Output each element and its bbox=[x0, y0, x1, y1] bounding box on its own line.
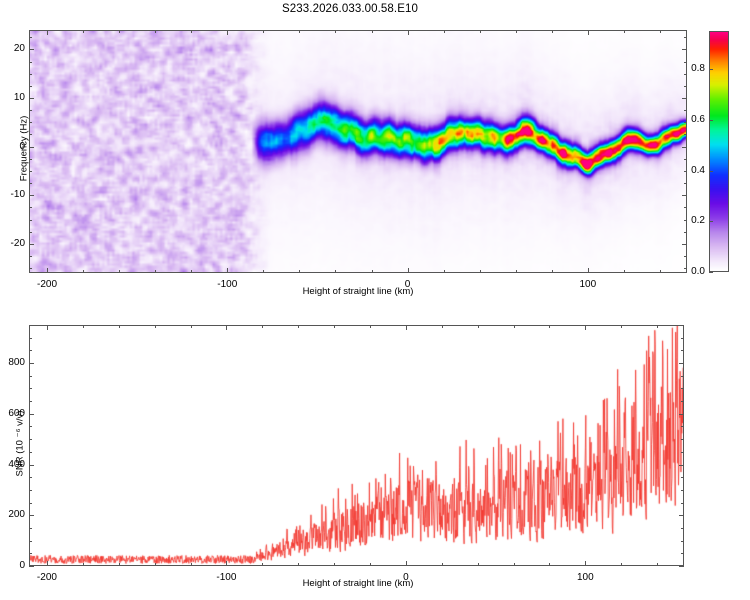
tick-mark bbox=[684, 134, 687, 135]
tick-mark bbox=[29, 490, 32, 491]
tick-mark bbox=[684, 159, 687, 160]
tick-mark bbox=[299, 270, 300, 273]
tick-mark bbox=[408, 30, 409, 35]
tick-mark bbox=[47, 30, 48, 35]
snr-trace bbox=[30, 326, 683, 565]
tick-label: 10 bbox=[5, 92, 25, 103]
tick-mark bbox=[681, 477, 684, 478]
tick-mark bbox=[370, 563, 371, 566]
tick-mark bbox=[679, 515, 684, 516]
tick-mark bbox=[29, 86, 32, 87]
page-title: S233.2026.033.00.58.E10 bbox=[0, 3, 700, 15]
tick-mark bbox=[684, 183, 687, 184]
tick-mark bbox=[83, 325, 84, 328]
tick-mark bbox=[679, 363, 684, 364]
spectrogram-image bbox=[30, 31, 686, 272]
tick-label: -100 bbox=[206, 572, 246, 583]
tick-mark bbox=[226, 325, 227, 330]
tick-label: 0.0 bbox=[683, 266, 705, 277]
tick-mark bbox=[29, 244, 34, 245]
tick-mark bbox=[83, 30, 84, 33]
tick-mark bbox=[29, 207, 32, 208]
tick-mark bbox=[682, 244, 687, 245]
tick-mark bbox=[263, 30, 264, 33]
tick-mark bbox=[588, 268, 589, 273]
tick-mark bbox=[478, 325, 479, 328]
tick-mark bbox=[29, 465, 34, 466]
tick-mark bbox=[191, 563, 192, 566]
tick-mark bbox=[621, 325, 622, 328]
tick-mark bbox=[29, 147, 34, 148]
tick-mark bbox=[552, 270, 553, 273]
tick-mark bbox=[552, 30, 553, 33]
tick-mark bbox=[29, 528, 32, 529]
tick-mark bbox=[621, 563, 622, 566]
tick-label: 100 bbox=[565, 572, 605, 583]
tick-mark bbox=[29, 566, 34, 567]
tick-label: 0 bbox=[1, 560, 25, 571]
tick-mark bbox=[29, 62, 32, 63]
tick-mark bbox=[155, 270, 156, 273]
tick-mark bbox=[335, 270, 336, 273]
tick-mark bbox=[155, 325, 156, 328]
tick-mark bbox=[684, 86, 687, 87]
tick-mark bbox=[442, 563, 443, 566]
tick-mark bbox=[191, 270, 192, 273]
tick-mark bbox=[370, 325, 371, 328]
tick-mark bbox=[679, 566, 684, 567]
tick-mark bbox=[684, 110, 687, 111]
tick-mark bbox=[191, 325, 192, 328]
tick-mark bbox=[298, 563, 299, 566]
tick-mark bbox=[684, 256, 687, 257]
tick-mark bbox=[478, 563, 479, 566]
tick-label: 0.6 bbox=[683, 114, 705, 125]
tick-mark bbox=[682, 98, 687, 99]
tick-mark bbox=[480, 30, 481, 33]
tick-label: 20 bbox=[5, 43, 25, 54]
tick-mark bbox=[298, 325, 299, 328]
tick-mark bbox=[299, 30, 300, 33]
tick-mark bbox=[442, 325, 443, 328]
tick-mark bbox=[262, 325, 263, 328]
tick-mark bbox=[29, 515, 34, 516]
tick-mark bbox=[514, 325, 515, 328]
tick-mark bbox=[681, 503, 684, 504]
tick-mark bbox=[684, 207, 687, 208]
tick-mark bbox=[444, 30, 445, 33]
tick-mark bbox=[29, 363, 34, 364]
tick-mark bbox=[29, 426, 32, 427]
tick-mark bbox=[119, 270, 120, 273]
tick-mark bbox=[682, 49, 687, 50]
tick-mark bbox=[681, 350, 684, 351]
tick-mark bbox=[679, 414, 684, 415]
tick-mark bbox=[227, 30, 228, 35]
tick-mark bbox=[263, 270, 264, 273]
tick-mark bbox=[29, 268, 32, 269]
tick-mark bbox=[119, 325, 120, 328]
tick-label: -20 bbox=[5, 238, 25, 249]
tick-mark bbox=[549, 325, 550, 328]
tick-label: -200 bbox=[27, 279, 67, 290]
tick-mark bbox=[119, 563, 120, 566]
tick-mark bbox=[549, 563, 550, 566]
tick-label: 200 bbox=[1, 509, 25, 520]
tick-mark bbox=[155, 563, 156, 566]
tick-mark bbox=[681, 338, 684, 339]
tick-label: 100 bbox=[568, 279, 608, 290]
tick-mark bbox=[709, 272, 713, 273]
tick-mark bbox=[29, 553, 32, 554]
tick-mark bbox=[408, 268, 409, 273]
snr-panel bbox=[29, 325, 684, 566]
tick-mark bbox=[29, 325, 32, 326]
tick-mark bbox=[585, 325, 586, 330]
tick-mark bbox=[480, 270, 481, 273]
tick-mark bbox=[684, 232, 687, 233]
tick-mark bbox=[624, 30, 625, 33]
spectrogram-x-axis-title: Height of straight line (km) bbox=[258, 286, 458, 297]
tick-mark bbox=[227, 268, 228, 273]
tick-mark bbox=[657, 563, 658, 566]
tick-mark bbox=[29, 477, 32, 478]
tick-label: -200 bbox=[27, 572, 67, 583]
tick-mark bbox=[335, 30, 336, 33]
tick-mark bbox=[681, 553, 684, 554]
tick-mark bbox=[29, 74, 32, 75]
tick-mark bbox=[29, 439, 32, 440]
tick-mark bbox=[709, 120, 713, 121]
tick-mark bbox=[29, 256, 32, 257]
tick-mark bbox=[585, 561, 586, 566]
spectrogram-panel bbox=[29, 30, 687, 273]
tick-mark bbox=[681, 439, 684, 440]
tick-mark bbox=[681, 426, 684, 427]
tick-mark bbox=[29, 503, 32, 504]
tick-mark bbox=[29, 376, 32, 377]
tick-mark bbox=[155, 30, 156, 33]
tick-mark bbox=[681, 452, 684, 453]
tick-mark bbox=[684, 37, 687, 38]
colorbar-gradient bbox=[710, 32, 728, 271]
tick-mark bbox=[191, 30, 192, 33]
tick-mark bbox=[681, 401, 684, 402]
tick-label: 0.2 bbox=[683, 215, 705, 226]
snr-x-axis-title: Height of straight line (km) bbox=[258, 578, 458, 589]
tick-mark bbox=[47, 325, 48, 330]
tick-mark bbox=[679, 465, 684, 466]
tick-mark bbox=[444, 270, 445, 273]
tick-mark bbox=[226, 561, 227, 566]
snr-y-axis-title: SNR (10 ⁻⁶ v/v) bbox=[15, 394, 26, 494]
tick-mark bbox=[681, 541, 684, 542]
tick-label: 0.4 bbox=[683, 165, 705, 176]
tick-label: 800 bbox=[1, 357, 25, 368]
tick-mark bbox=[682, 195, 687, 196]
tick-mark bbox=[372, 270, 373, 273]
tick-label: 0.8 bbox=[683, 63, 705, 74]
tick-mark bbox=[83, 563, 84, 566]
tick-mark bbox=[514, 563, 515, 566]
tick-mark bbox=[47, 561, 48, 566]
tick-mark bbox=[29, 232, 32, 233]
tick-mark bbox=[406, 561, 407, 566]
tick-mark bbox=[29, 350, 32, 351]
tick-mark bbox=[29, 220, 32, 221]
tick-mark bbox=[119, 30, 120, 33]
tick-mark bbox=[29, 49, 34, 50]
tick-mark bbox=[29, 452, 32, 453]
tick-mark bbox=[681, 490, 684, 491]
tick-mark bbox=[334, 325, 335, 328]
tick-mark bbox=[682, 147, 687, 148]
tick-mark bbox=[657, 325, 658, 328]
tick-mark bbox=[29, 541, 32, 542]
tick-mark bbox=[709, 171, 713, 172]
tick-mark bbox=[262, 563, 263, 566]
tick-mark bbox=[624, 270, 625, 273]
tick-mark bbox=[660, 30, 661, 33]
tick-mark bbox=[681, 528, 684, 529]
tick-mark bbox=[29, 37, 32, 38]
tick-mark bbox=[83, 270, 84, 273]
tick-mark bbox=[334, 563, 335, 566]
tick-label: -100 bbox=[207, 279, 247, 290]
tick-mark bbox=[29, 414, 34, 415]
colorbar bbox=[709, 31, 729, 272]
tick-mark bbox=[660, 270, 661, 273]
figure-root: S233.2026.033.00.58.E10 -200-1000100-20-… bbox=[0, 0, 750, 600]
tick-mark bbox=[516, 270, 517, 273]
tick-mark bbox=[29, 195, 34, 196]
tick-mark bbox=[681, 325, 684, 326]
tick-mark bbox=[516, 30, 517, 33]
tick-mark bbox=[681, 388, 684, 389]
tick-mark bbox=[372, 30, 373, 33]
tick-mark bbox=[406, 325, 407, 330]
tick-mark bbox=[29, 98, 34, 99]
tick-mark bbox=[588, 30, 589, 35]
tick-mark bbox=[681, 376, 684, 377]
spectrogram-y-axis-title: Frequency (Hz) bbox=[19, 104, 30, 194]
tick-mark bbox=[29, 401, 32, 402]
tick-mark bbox=[709, 69, 713, 70]
tick-mark bbox=[709, 221, 713, 222]
tick-mark bbox=[47, 268, 48, 273]
tick-mark bbox=[29, 388, 32, 389]
tick-mark bbox=[29, 338, 32, 339]
